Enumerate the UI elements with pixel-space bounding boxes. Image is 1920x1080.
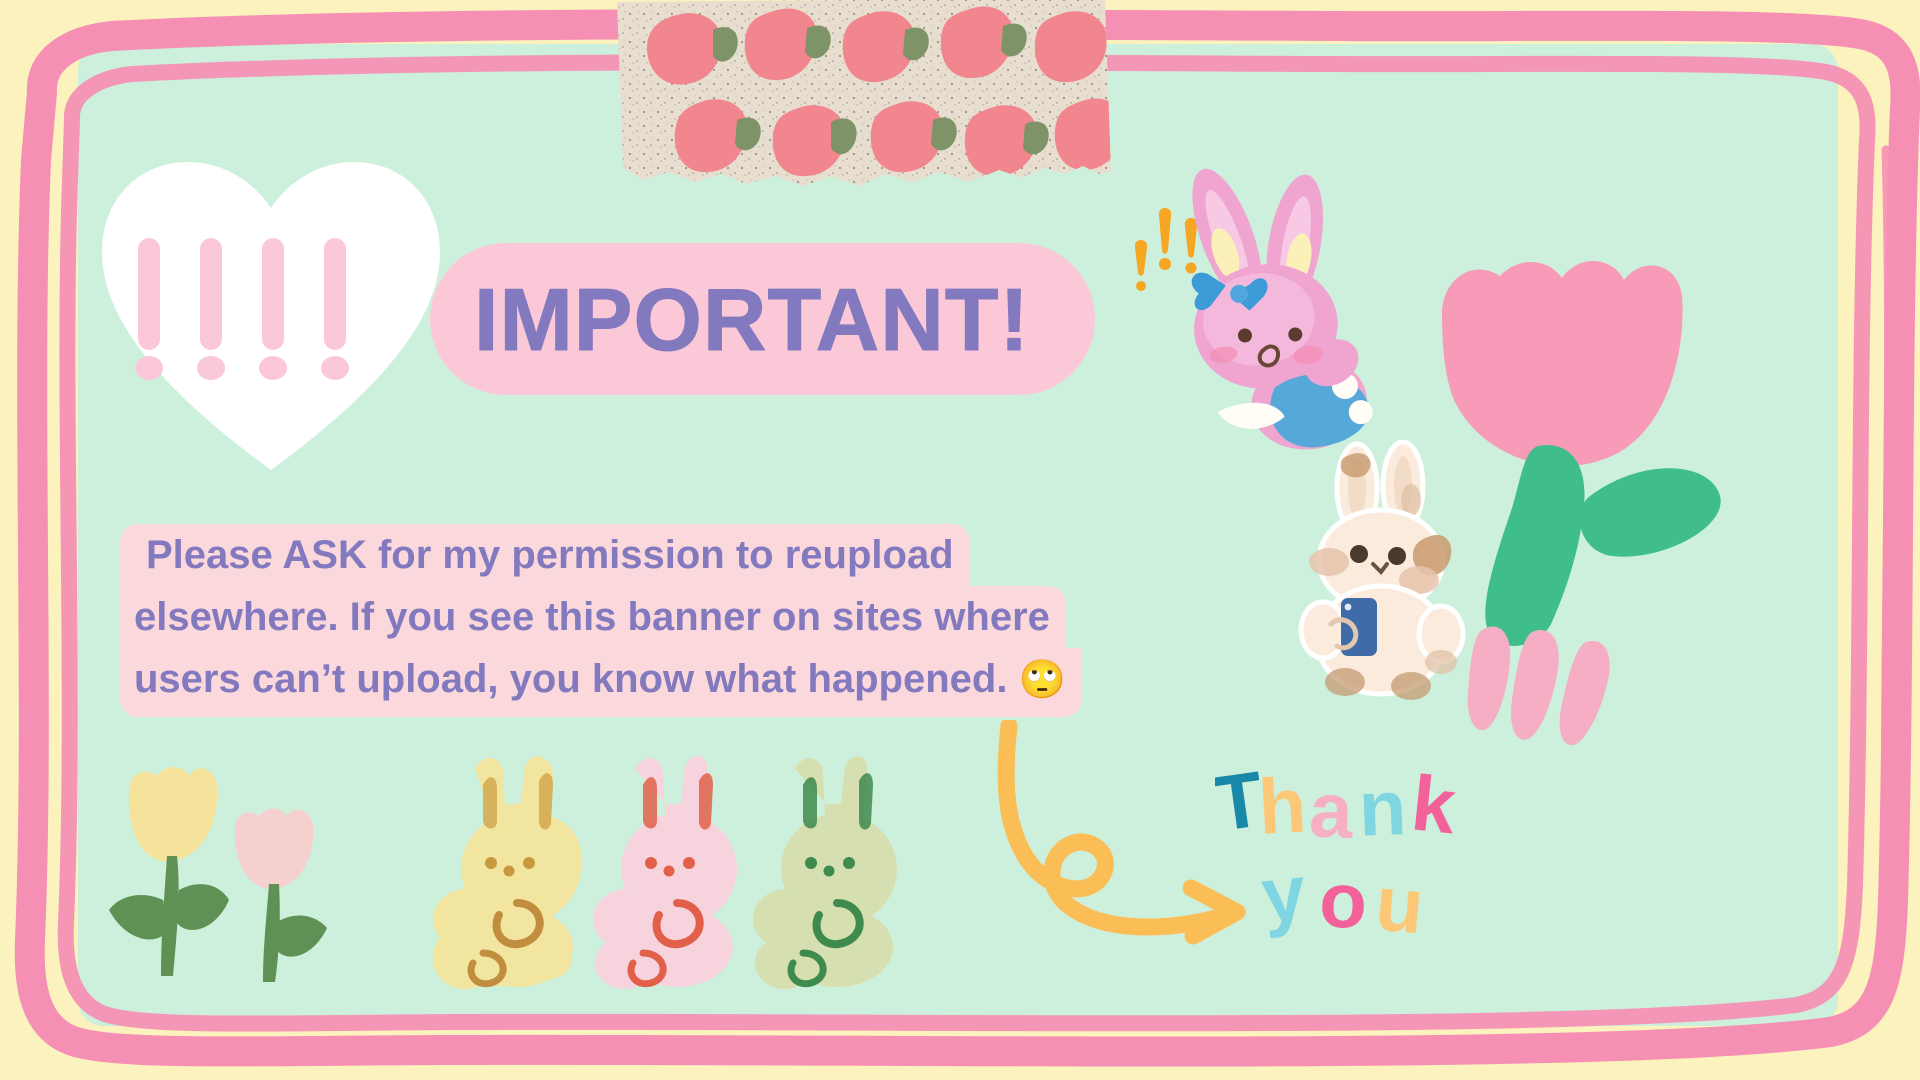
- message-line-3: users can’t upload, you know what happen…: [120, 648, 1082, 717]
- thanks-letter-h: h: [1256, 761, 1308, 851]
- bunny-cookie-pink: [593, 756, 737, 989]
- bunny-beige-with-phone-sticker: [1285, 440, 1480, 700]
- thanks-letter-o: o: [1318, 855, 1369, 945]
- message-line-2: elsewhere. If you see this banner on sit…: [120, 586, 1066, 648]
- bunny-cookie-yellow: [433, 756, 582, 989]
- thanks-letter-n: n: [1357, 763, 1408, 853]
- thanks-letter-a: a: [1308, 765, 1355, 854]
- thanks-letter-u: u: [1372, 859, 1427, 951]
- message-block: Please ASK for my permission to reupload…: [120, 524, 1082, 717]
- heart-with-exclamations-icon: [96, 150, 446, 480]
- tulip-yellow: [109, 767, 229, 976]
- message-line-1: Please ASK for my permission to reupload: [120, 524, 970, 586]
- thanks-letter-k: k: [1408, 758, 1461, 850]
- washi-tape-roses: [613, 0, 1113, 211]
- bunny-cookies-row: [405, 745, 905, 990]
- face-with-rolling-eyes-icon: 🙄: [1019, 659, 1066, 701]
- page-title: IMPORTANT!: [474, 258, 1094, 382]
- bunny-pink-with-bow-sticker: [1145, 155, 1405, 455]
- thanks-letter-y: y: [1257, 848, 1309, 940]
- small-tulips: [95, 760, 345, 990]
- message-line-3-text: users can’t upload, you know what happen…: [134, 657, 1007, 701]
- thank-you-lettering: T h a n k y o u: [1215, 755, 1515, 955]
- banner-canvas: IMPORTANT!: [0, 0, 1920, 1080]
- tulip-pink: [235, 809, 327, 983]
- bunny-cookie-sage: [753, 756, 897, 989]
